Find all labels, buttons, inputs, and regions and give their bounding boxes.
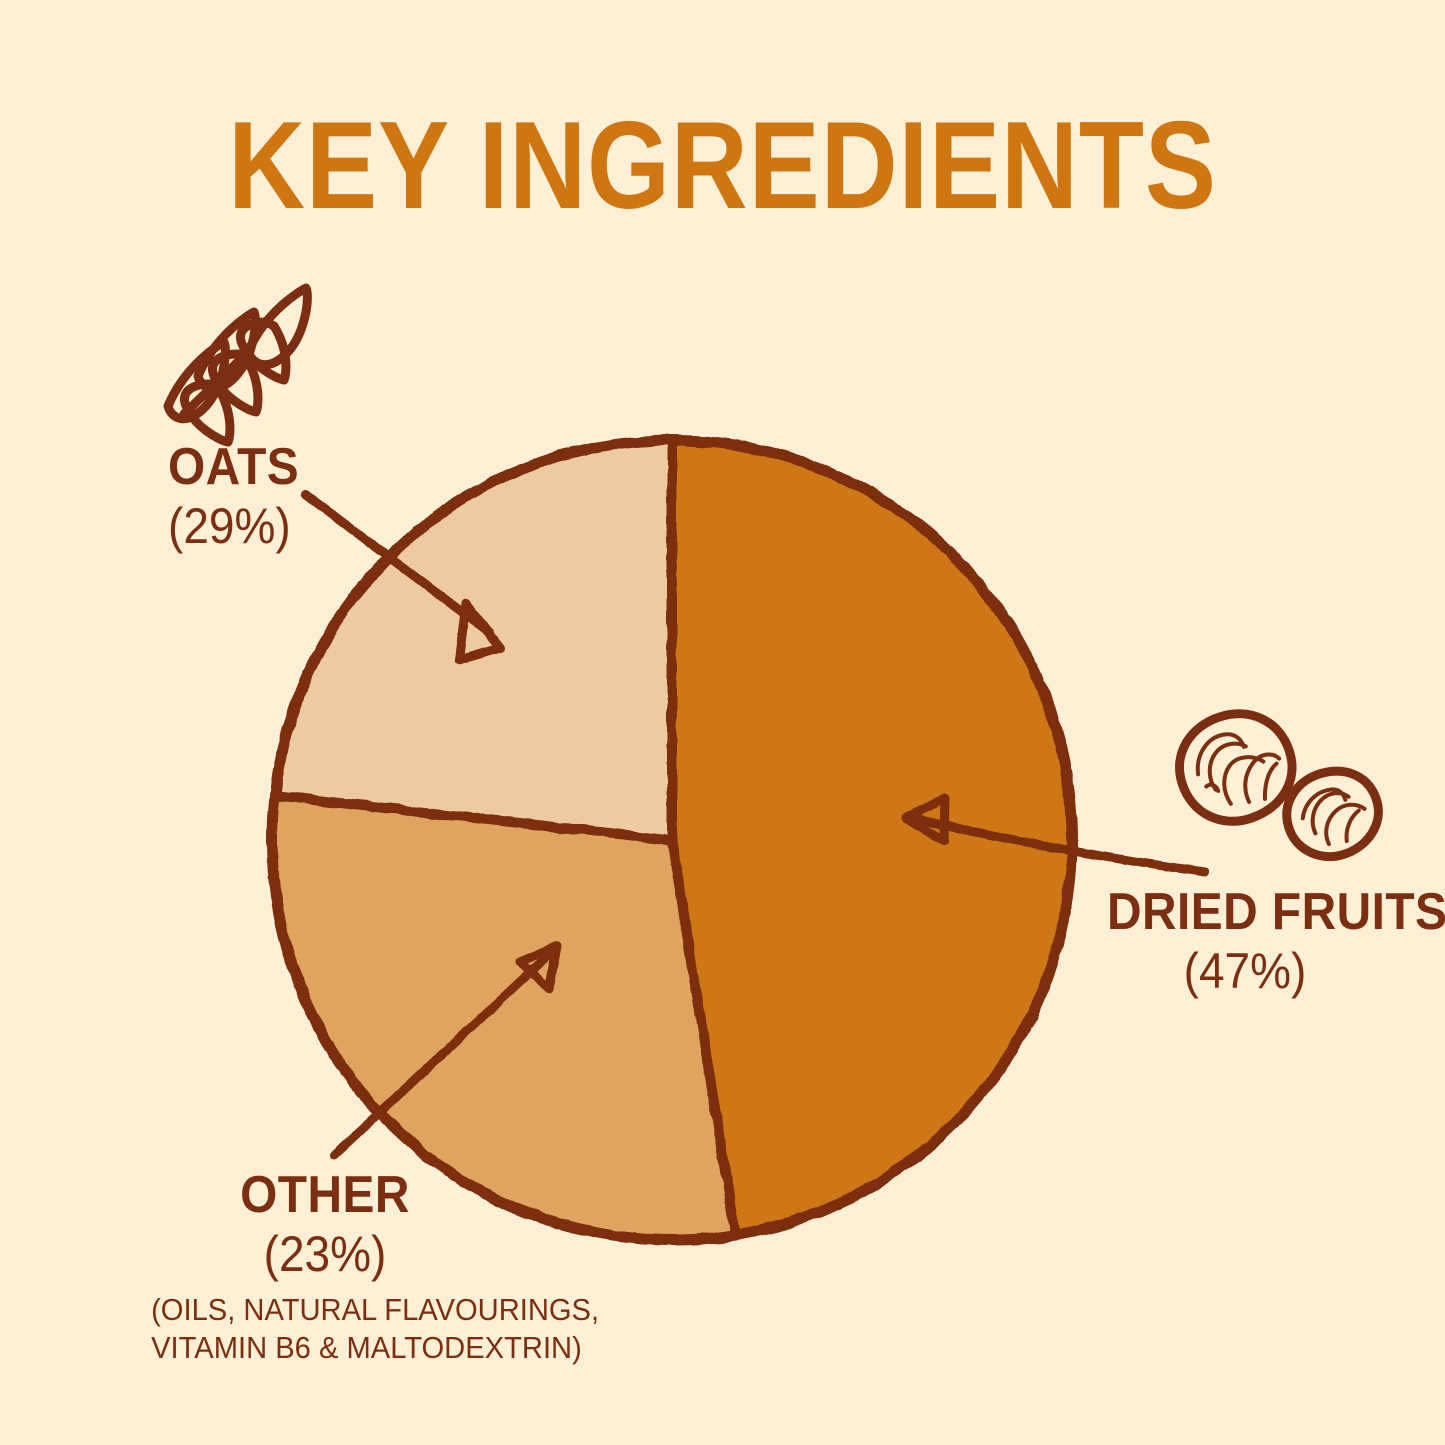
callout-label-oats: OATS (29%) [168, 440, 311, 552]
dried-fruits-label-name: DRIED FRUITS [1107, 885, 1383, 939]
callout-label-dried-fruits: DRIED FRUITS (47%) [1095, 885, 1395, 997]
raisins-icon [1166, 700, 1388, 867]
pie-slice-oats[interactable] [275, 440, 673, 840]
other-label-sub-line-2: VITAMIN B6 & MALTODEXTRIN) [151, 1330, 499, 1366]
callout-label-other: OTHER (23%) (OILS, NATURAL FLAVOURINGS, … [140, 1168, 510, 1366]
other-label-sub-line-1: (OILS, NATURAL FLAVOURINGS, [151, 1292, 499, 1328]
oats-label-percent: (29%) [168, 500, 299, 552]
oats-label-name: OATS [168, 440, 299, 494]
dried-fruits-label-percent: (47%) [1107, 945, 1383, 997]
other-label-name: OTHER [155, 1168, 495, 1222]
infographic-canvas: KEY INGREDIENTS [0, 0, 1445, 1445]
wheat-sheaf-icon [168, 288, 307, 442]
other-label-percent: (23%) [155, 1228, 495, 1280]
